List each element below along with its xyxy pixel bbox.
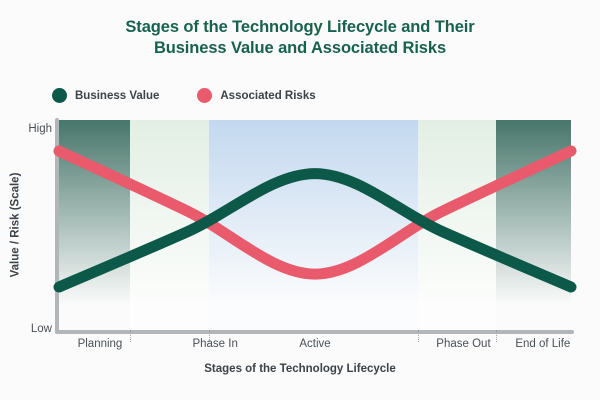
x-tick-label-planning: Planning xyxy=(78,338,123,350)
x-axis-tick-labels: PlanningPhase InActivePhase OutEnd of Li… xyxy=(0,338,600,354)
x-axis-title: Stages of the Technology Lifecycle xyxy=(0,363,600,375)
circle-marker-icon xyxy=(197,88,212,103)
chart-container: Stages of the Technology Lifecycle and T… xyxy=(0,0,600,400)
y-tick-label-low: Low xyxy=(0,323,52,335)
legend-item-business-value[interactable]: Business Value xyxy=(52,88,159,103)
legend-label-associated-risks: Associated Risks xyxy=(220,90,315,102)
plot-area xyxy=(59,120,571,330)
chart-legend: Business Value Associated Risks xyxy=(52,88,316,103)
chart-title: Stages of the Technology Lifecycle and T… xyxy=(0,17,600,59)
x-tick-label-end-of-life: End of Life xyxy=(515,338,570,350)
x-tick-label-phase-out: Phase Out xyxy=(436,338,490,350)
circle-marker-icon xyxy=(52,88,67,103)
curves-layer xyxy=(59,120,571,330)
x-tick-label-active: Active xyxy=(299,338,330,350)
legend-item-associated-risks[interactable]: Associated Risks xyxy=(197,88,315,103)
chart-title-line-2: Business Value and Associated Risks xyxy=(0,38,600,59)
x-tick-label-phase-in: Phase In xyxy=(192,338,237,350)
legend-label-business-value: Business Value xyxy=(75,90,159,102)
chart-title-line-1: Stages of the Technology Lifecycle and T… xyxy=(0,17,600,38)
y-tick-label-high: High xyxy=(0,123,52,135)
